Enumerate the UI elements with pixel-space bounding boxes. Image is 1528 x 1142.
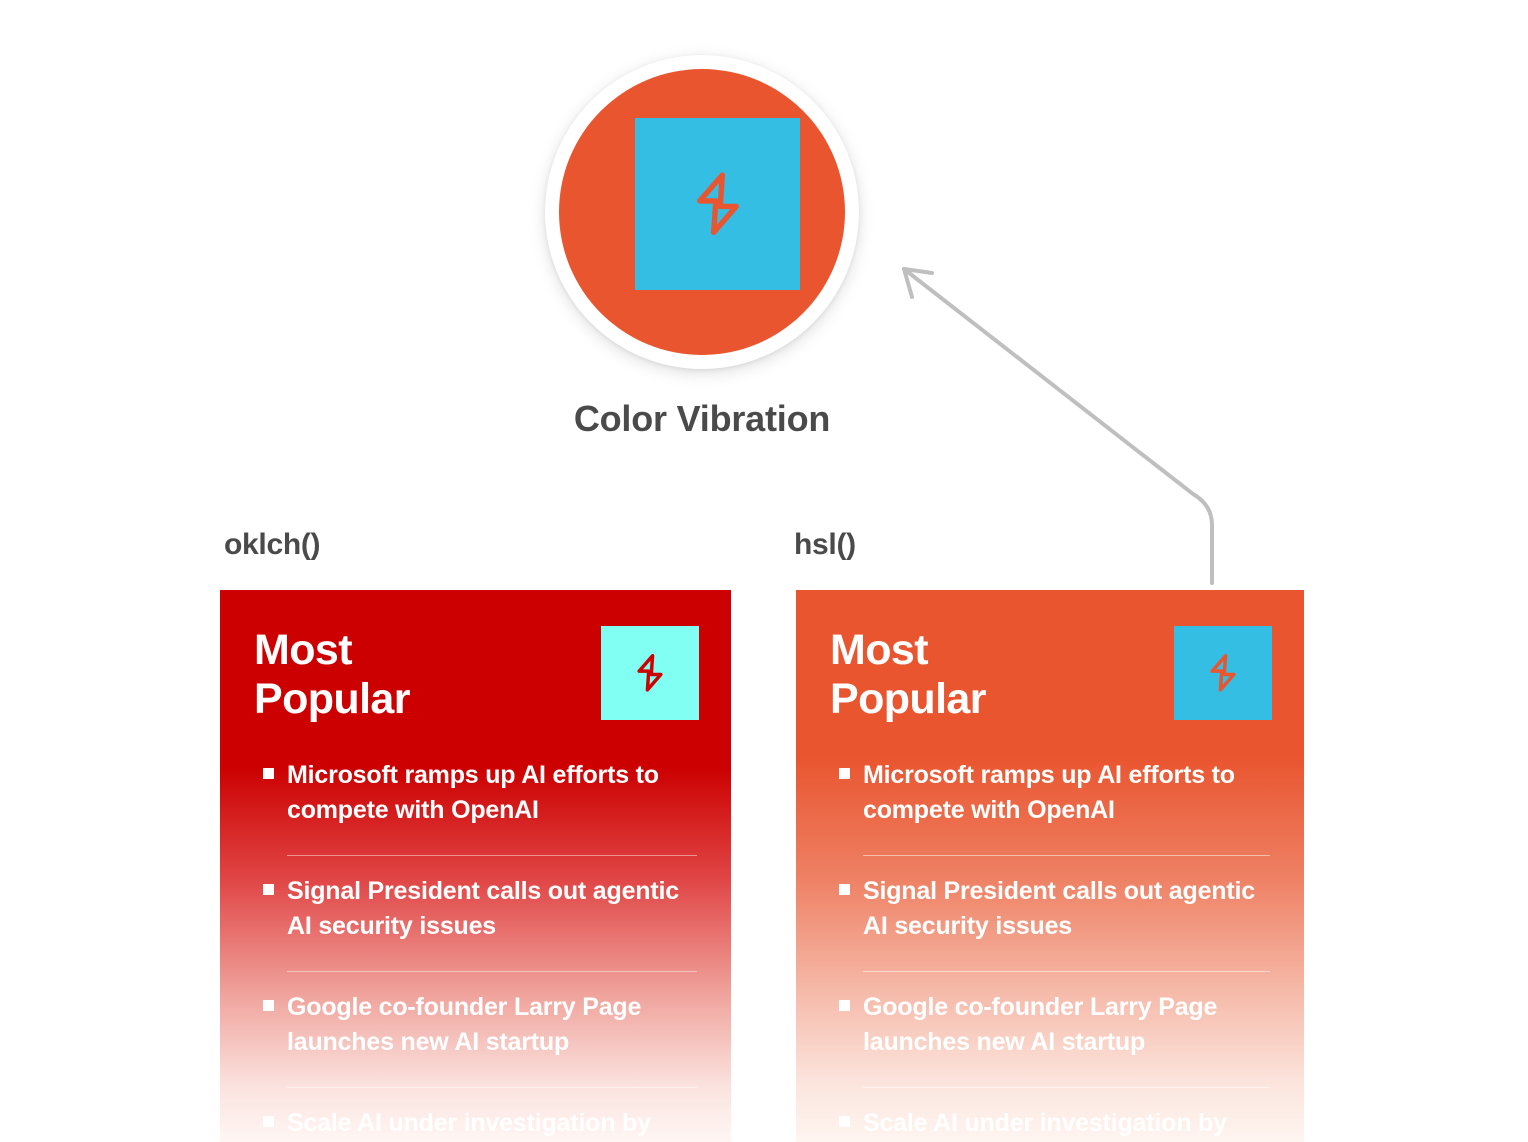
list-item[interactable]: Google co-founder Larry Page launches ne… — [839, 972, 1270, 1088]
square-bullet-icon — [263, 768, 274, 779]
square-bullet-icon — [263, 884, 274, 895]
card-heading-line1: Most — [830, 626, 928, 674]
list-item[interactable]: Microsoft ramps up AI efforts to compete… — [263, 740, 697, 856]
card-heading-line2: Popular — [830, 675, 986, 723]
square-bullet-icon — [839, 884, 850, 895]
list-item[interactable]: Signal President calls out agentic AI se… — [839, 856, 1270, 972]
page-root: Color Vibration oklch() hsl() Most Popul… — [0, 0, 1528, 1142]
list-item-label: Signal President calls out agentic AI se… — [287, 874, 697, 943]
list-item[interactable]: Scale AI under investigation by — [839, 1088, 1270, 1141]
lightning-bolt-icon — [1201, 651, 1245, 695]
list-item-label: Scale AI under investigation by — [863, 1106, 1270, 1141]
square-bullet-icon — [839, 768, 850, 779]
list-item[interactable]: Scale AI under investigation by — [263, 1088, 697, 1141]
column-label-hsl: hsl() — [794, 528, 856, 562]
card-heading-line1: Most — [254, 626, 352, 674]
card-header: Most Popular — [796, 590, 1304, 740]
list-item-label: Scale AI under investigation by — [287, 1106, 697, 1141]
card-icon-box — [1174, 626, 1272, 720]
lightning-bolt-icon — [681, 167, 755, 241]
card-oklch[interactable]: Most Popular Microsoft ramps up AI effor… — [220, 590, 731, 1142]
list-item-label: Google co-founder Larry Page launches ne… — [863, 990, 1270, 1059]
list-item-label: Microsoft ramps up AI efforts to compete… — [287, 758, 697, 827]
square-bullet-icon — [839, 1000, 850, 1011]
list-item-label: Signal President calls out agentic AI se… — [863, 874, 1270, 943]
list-item[interactable]: Signal President calls out agentic AI se… — [263, 856, 697, 972]
card-heading-line2: Popular — [254, 675, 410, 723]
list-item-label: Google co-founder Larry Page launches ne… — [287, 990, 697, 1059]
hero-icon-square — [635, 118, 800, 290]
card-hsl[interactable]: Most Popular Microsoft ramps up AI effor… — [796, 590, 1304, 1142]
list-item[interactable]: Google co-founder Larry Page launches ne… — [263, 972, 697, 1088]
square-bullet-icon — [839, 1116, 850, 1127]
lightning-bolt-icon — [628, 651, 672, 695]
card-header: Most Popular — [220, 590, 731, 740]
news-list: Microsoft ramps up AI efforts to compete… — [220, 740, 731, 1141]
square-bullet-icon — [263, 1000, 274, 1011]
curved-arrow — [860, 235, 1260, 585]
square-bullet-icon — [263, 1116, 274, 1127]
list-item[interactable]: Microsoft ramps up AI efforts to compete… — [839, 740, 1270, 856]
list-item-label: Microsoft ramps up AI efforts to compete… — [863, 758, 1270, 827]
news-list: Microsoft ramps up AI efforts to compete… — [796, 740, 1304, 1141]
column-label-oklch: oklch() — [224, 528, 320, 562]
card-icon-box — [601, 626, 699, 720]
